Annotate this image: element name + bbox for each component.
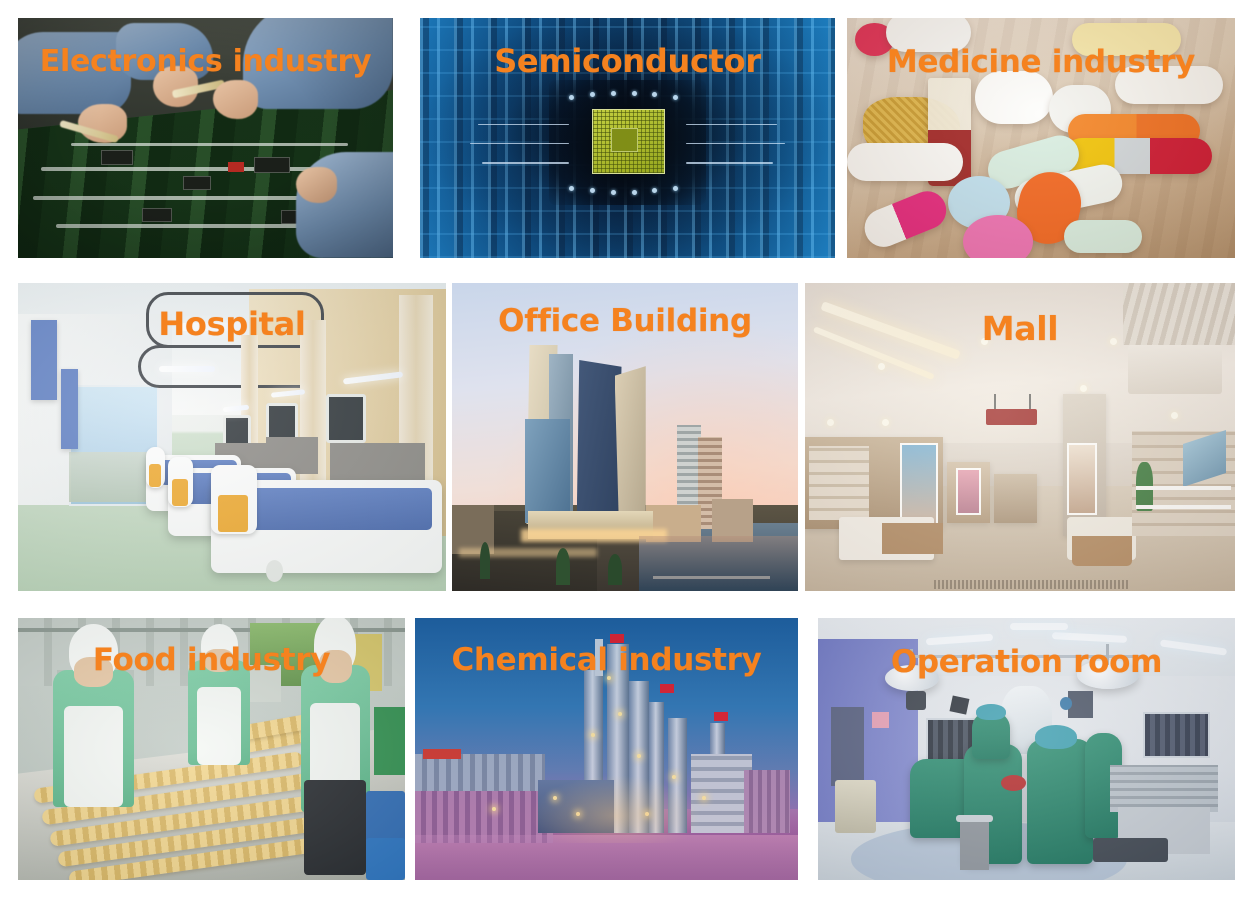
mall-watermark — [934, 580, 1128, 589]
tile-caption-mall: Mall — [805, 309, 1235, 348]
tile-caption-food-industry: Food industry — [18, 642, 405, 678]
tile-hospital[interactable]: Hospital — [18, 283, 446, 591]
tile-caption-semiconductor: Semiconductor — [420, 42, 835, 80]
tile-food-industry[interactable]: Food industry — [18, 618, 405, 880]
tile-caption-office-building: Office Building — [452, 303, 798, 339]
industry-gallery: Electronics industry — [0, 0, 1253, 898]
tile-mall[interactable]: Mall — [805, 283, 1235, 591]
tile-medicine-industry[interactable]: Medicine industry — [847, 18, 1235, 258]
tile-caption-electronics-industry: Electronics industry — [18, 44, 393, 79]
tile-chemical-industry[interactable]: Chemical industry — [415, 618, 798, 880]
tile-electronics-industry[interactable]: Electronics industry — [18, 18, 393, 258]
tile-operation-room[interactable]: Operation room — [818, 618, 1235, 880]
tile-office-building[interactable]: Office Building — [452, 283, 798, 591]
tile-caption-hospital: Hospital — [18, 305, 446, 343]
tile-caption-chemical-industry: Chemical industry — [415, 642, 798, 678]
tile-semiconductor[interactable]: Semiconductor — [420, 18, 835, 258]
tile-caption-operation-room: Operation room — [818, 644, 1235, 680]
tile-caption-medicine-industry: Medicine industry — [847, 44, 1235, 80]
